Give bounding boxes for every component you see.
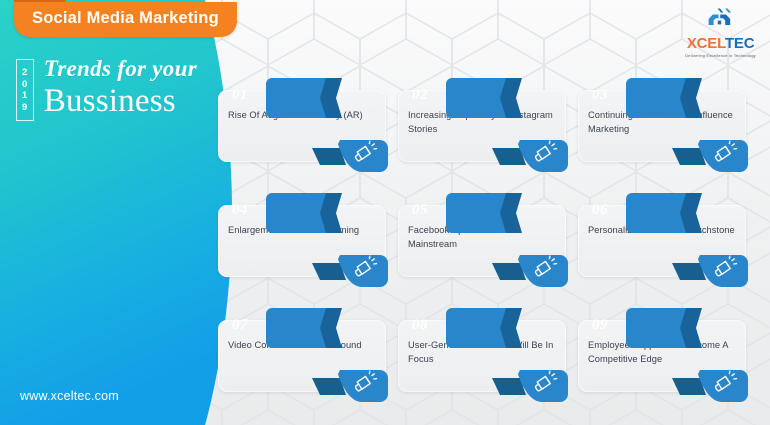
megaphone-icon	[353, 369, 379, 395]
megaphone-icon	[353, 139, 379, 165]
trend-card[interactable]: 02 Increasing Popularity Of Instagram St…	[392, 76, 568, 176]
x-burst-icon	[706, 8, 736, 35]
header-badge: Social Media Marketing	[14, 2, 237, 37]
trend-card[interactable]: 06 Personalization Will Be Touchstone	[572, 191, 748, 291]
number-ribbon	[446, 191, 524, 235]
logo-name-second: TEC	[725, 35, 754, 52]
number-ribbon	[626, 76, 704, 120]
megaphone-icon	[713, 254, 739, 280]
trend-card[interactable]: 08 User-Generated Content Will Be In Foc…	[392, 306, 568, 406]
number-ribbon	[446, 76, 524, 120]
megaphone-icon	[533, 139, 559, 165]
trend-card[interactable]: 01 Rise Of Augmented Reality (AR)	[212, 76, 388, 176]
headline-block: 2 0 1 9 Trends for your Bussiness	[16, 55, 197, 121]
logo-wordmark: XCELTEC	[687, 36, 755, 51]
megaphone-icon	[533, 369, 559, 395]
trend-card-grid: 01 Rise Of Augmented Reality (AR)	[212, 76, 760, 421]
infographic-poster: Social Media Marketing 2 0 1 9 Trends fo…	[0, 0, 770, 425]
megaphone-icon	[713, 139, 739, 165]
year-digit-3: 9	[22, 102, 28, 114]
trend-card[interactable]: 04 Enlargement Of Live Streaming	[212, 191, 388, 291]
logo-name-first: XCEL	[687, 35, 725, 52]
year-box: 2 0 1 9	[16, 59, 34, 121]
number-ribbon	[626, 306, 704, 350]
year-digit-2: 1	[22, 90, 28, 102]
trend-card[interactable]: 03 Continuing Investment In Influence Ma…	[572, 76, 748, 176]
number-ribbon	[266, 191, 344, 235]
megaphone-icon	[353, 254, 379, 280]
headline-main: Bussiness	[44, 83, 197, 119]
website-url[interactable]: www.xceltec.com	[20, 389, 119, 403]
trend-card[interactable]: 09 Employee Support Will Become A Compet…	[572, 306, 748, 406]
number-ribbon	[446, 306, 524, 350]
megaphone-icon	[713, 369, 739, 395]
year-digit-1: 0	[22, 79, 28, 91]
number-ribbon	[626, 191, 704, 235]
number-ribbon	[266, 76, 344, 120]
trend-card[interactable]: 05 Facebook Spaces Goes Mainstream	[392, 191, 568, 291]
year-digit-0: 2	[22, 67, 28, 79]
number-ribbon	[266, 306, 344, 350]
logo-tagline: Delivering Excellence in Technology	[685, 53, 756, 58]
megaphone-icon	[533, 254, 559, 280]
trend-card[interactable]: 07 Video Content Will Gain Ground	[212, 306, 388, 406]
company-logo[interactable]: XCELTEC Delivering Excellence in Technol…	[685, 8, 756, 58]
headline-script: Trends for your	[44, 57, 197, 81]
